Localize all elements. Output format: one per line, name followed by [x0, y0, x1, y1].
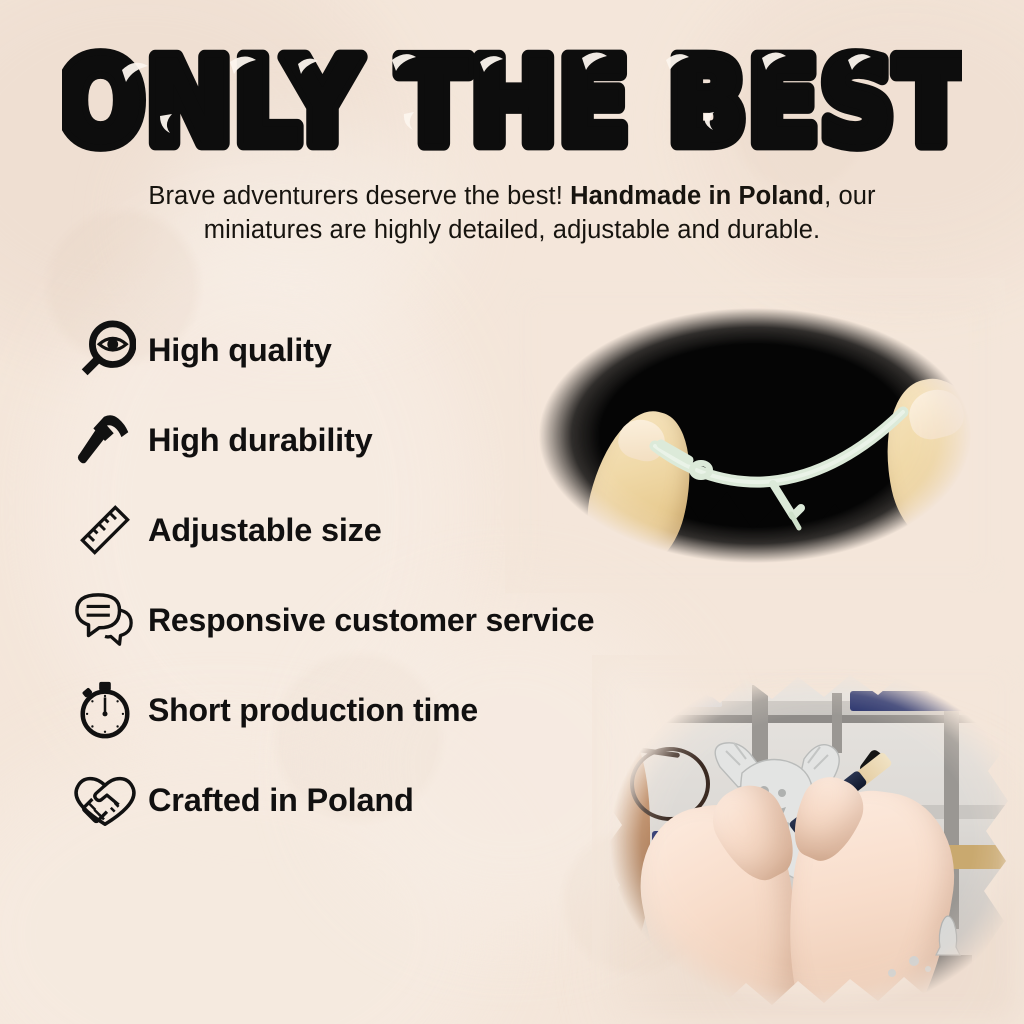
subtitle-lead: Brave adventurers deserve the best! — [148, 182, 570, 210]
handshake-heart-icon — [62, 761, 148, 839]
torn-edge-graphic — [592, 655, 1024, 1024]
ruler-icon — [62, 491, 148, 569]
magnifier-eye-icon — [62, 311, 148, 389]
page-title-graphic: ONLY THE BEST — [62, 36, 962, 154]
hammer-icon — [62, 401, 148, 479]
miniature-part — [505, 278, 1005, 593]
stopwatch-icon — [62, 671, 148, 749]
page-title: ONLY THE BEST — [62, 36, 962, 154]
infographic-canvas: ONLY THE BEST Brave adventurers deserve … — [0, 0, 1024, 1024]
subtitle-highlight: Handmade in Poland — [570, 182, 824, 210]
workshop-painting-photo — [592, 655, 1024, 1024]
feature-label: Crafted in Poland — [148, 782, 414, 819]
title-container: ONLY THE BEST — [0, 36, 1024, 159]
subtitle: Brave adventurers deserve the best! Hand… — [97, 180, 927, 247]
speech-bubbles-icon — [62, 581, 148, 659]
flexible-miniature-photo — [505, 278, 1005, 593]
feature-label: Responsive customer service — [148, 602, 594, 639]
photo-torn-mask — [592, 655, 1024, 1024]
feature-label: High durability — [148, 422, 373, 459]
photo-torn-mask — [505, 278, 1005, 593]
feature-label: Short production time — [148, 692, 478, 729]
feature-label: Adjustable size — [148, 512, 382, 549]
feature-label: High quality — [148, 332, 332, 369]
